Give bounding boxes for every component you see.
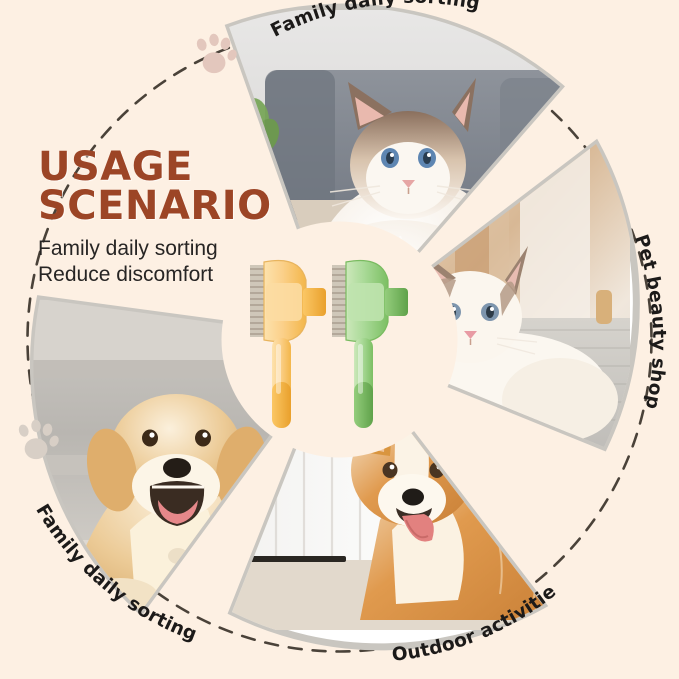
brush-button-orange [303, 288, 326, 316]
page-subtitle-line2: Reduce discomfort [38, 262, 298, 288]
brush-grip-green [354, 382, 373, 428]
usage-scenario-poster: Family daily sorting Pet beauty shop Out… [0, 0, 679, 679]
page-subtitle: Family daily sorting Reduce discomfort [38, 236, 298, 287]
page-title: USAGE SCENARIO [38, 148, 298, 226]
page-title-line1: USAGE [38, 148, 298, 187]
brush-grip-orange [272, 382, 291, 428]
brush-button-green [385, 288, 408, 316]
page-title-line2: SCENARIO [38, 187, 298, 226]
poster-canvas: Family daily sorting Pet beauty shop Out… [0, 0, 679, 679]
page-subtitle-line1: Family daily sorting [38, 236, 298, 262]
brush-pins-green [332, 265, 346, 337]
headline-block: USAGE SCENARIO Family daily sorting Redu… [38, 148, 298, 288]
